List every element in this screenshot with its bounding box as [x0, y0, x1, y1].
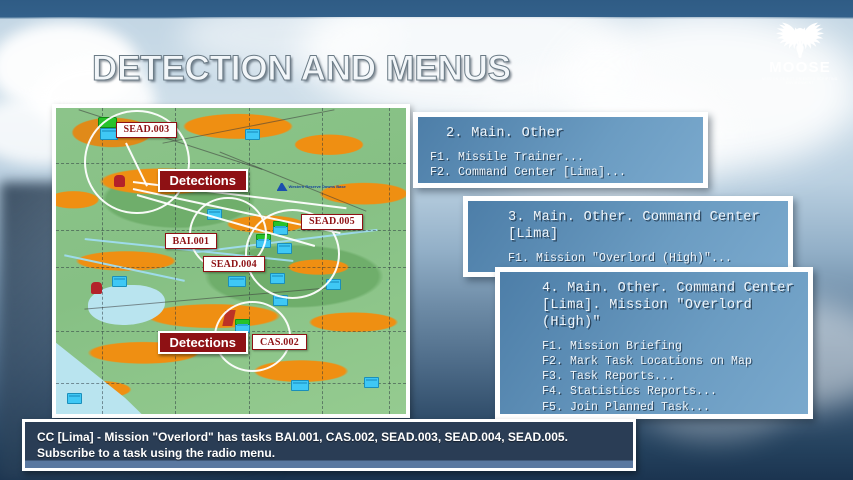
- dcs-f10-map[interactable]: Western Reserve Downs Base SEAD.003 Dete…: [56, 108, 406, 414]
- map-label-bai-001[interactable]: BAI.001: [165, 233, 218, 249]
- moose-logo: MOOSE MISSION OBJECT ORIENTED SCRIPTING …: [759, 14, 841, 92]
- map-label-sead-003[interactable]: SEAD.003: [116, 122, 178, 138]
- menu-panel-4-items: F1. Mission Briefing F2. Mark Task Locat…: [512, 339, 796, 415]
- radio-message-box: CC [Lima] - Mission "Overlord" has tasks…: [22, 419, 636, 471]
- map-unit-blue: [112, 276, 127, 287]
- radio-message-body: CC [Lima] - Mission "Overlord" has tasks…: [25, 422, 633, 468]
- page-title: DETECTION AND MENUS: [92, 49, 511, 89]
- map-label-detections-upper[interactable]: Detections: [158, 169, 248, 192]
- menu-item-f2[interactable]: F2. Command Center [Lima]...: [430, 165, 691, 180]
- menu-item-f1[interactable]: F1. Mission "Overlord (High)"...: [508, 251, 776, 266]
- map-label-sead-004[interactable]: SEAD.004: [203, 256, 265, 272]
- map-label-detections-lower[interactable]: Detections: [158, 331, 248, 354]
- menu-item-f5[interactable]: F5. Join Planned Task...: [542, 400, 796, 415]
- menu-item-f1[interactable]: F1. Mission Briefing: [542, 339, 796, 354]
- moose-wordmark: MOOSE: [759, 60, 841, 75]
- menu-panel-3-body: 3. Main. Other. Command Center [Lima] F1…: [468, 201, 788, 272]
- menu-panel-2-body: 2. Main. Other F1. Missile Trainer... F2…: [418, 117, 703, 183]
- menu-panel-2-items: F1. Missile Trainer... F2. Command Cente…: [430, 150, 691, 181]
- airbase-icon: [277, 183, 288, 191]
- menu-panel-3[interactable]: 3. Main. Other. Command Center [Lima] F1…: [463, 196, 793, 277]
- map-label-cas-002[interactable]: CAS.002: [252, 334, 307, 350]
- map-unit-blue: [67, 393, 82, 404]
- menu-item-f3[interactable]: F3. Task Reports...: [542, 369, 796, 384]
- map-unit-blue: [228, 276, 246, 287]
- menu-item-f1[interactable]: F1. Missile Trainer...: [430, 150, 691, 165]
- moose-tagline: MISSION OBJECT ORIENTED SCRIPTING ENVIRO…: [759, 77, 841, 85]
- map-unit-blue: [291, 380, 309, 391]
- menu-item-f2[interactable]: F2. Mark Task Locations on Map: [542, 354, 796, 369]
- radio-message-line-1: CC [Lima] - Mission "Overlord" has tasks…: [37, 429, 621, 445]
- map-unit-blue: [245, 129, 260, 140]
- airbase-name: Western Reserve Downs Base: [289, 184, 346, 189]
- menu-panel-4[interactable]: 4. Main. Other. Command Center [Lima]. M…: [495, 267, 813, 419]
- menu-panel-3-items: F1. Mission "Overlord (High)"...: [480, 251, 776, 266]
- map-unit-blue: [364, 377, 379, 388]
- top-accent-bar: [0, 0, 853, 17]
- map-airbase-label: Western Reserve Downs Base: [277, 183, 346, 191]
- map-gridline: [56, 383, 406, 385]
- menu-panel-2[interactable]: 2. Main. Other F1. Missile Trainer... F2…: [413, 112, 708, 188]
- slide-canvas: MOOSE MISSION OBJECT ORIENTED SCRIPTING …: [0, 0, 853, 480]
- map-frame[interactable]: Western Reserve Downs Base SEAD.003 Dete…: [52, 104, 410, 418]
- map-label-sead-005[interactable]: SEAD.005: [301, 214, 363, 230]
- menu-panel-4-header: 4. Main. Other. Command Center [Lima]. M…: [512, 281, 796, 332]
- moose-antlers-icon: [769, 14, 831, 60]
- menu-panel-2-header: 2. Main. Other: [430, 126, 691, 143]
- menu-item-f4[interactable]: F4. Statistics Reports...: [542, 384, 796, 399]
- map-gridline: [389, 108, 391, 414]
- menu-panel-3-header: 3. Main. Other. Command Center [Lima]: [480, 210, 776, 244]
- radio-message-line-2: Subscribe to a task using the radio menu…: [37, 445, 621, 461]
- menu-panel-4-body: 4. Main. Other. Command Center [Lima]. M…: [500, 272, 808, 414]
- map-unit-red: [91, 282, 102, 294]
